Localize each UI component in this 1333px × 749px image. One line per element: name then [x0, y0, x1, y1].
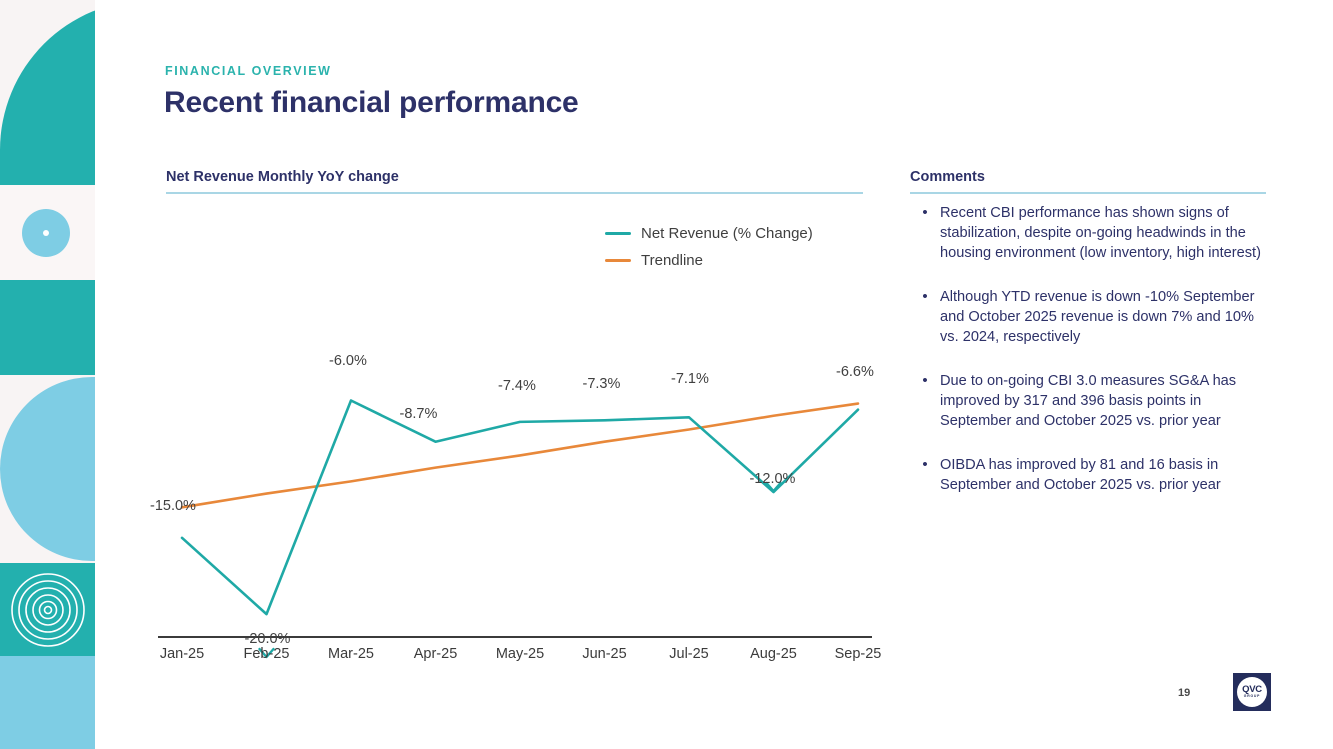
- x-axis-label-sep-25: Sep-25: [818, 646, 898, 662]
- rail-block-donut: [0, 185, 95, 280]
- net-revenue-series: [182, 401, 858, 615]
- x-axis-label-jan-25: Jan-25: [142, 646, 222, 662]
- x-axis-label-jul-25: Jul-25: [649, 646, 729, 662]
- comment-text: Due to on-going CBI 3.0 measures SG&A ha…: [940, 371, 1270, 431]
- slide: FINANCIAL OVERVIEW Recent financial perf…: [0, 0, 1333, 749]
- chart-legend: Net Revenue (% Change) Trendline: [605, 220, 813, 274]
- data-label-aug-25: -12.0%: [750, 471, 796, 487]
- logo-secondary-text: GROUP: [1244, 694, 1260, 699]
- legend-swatch-trendline: [605, 259, 631, 262]
- legend-label-net-revenue: Net Revenue (% Change): [641, 225, 813, 242]
- comment-item: •Due to on-going CBI 3.0 measures SG&A h…: [910, 371, 1270, 431]
- chevron-markers: [260, 483, 781, 657]
- quarter-circle-shape: [0, 0, 95, 185]
- comment-item: •OIBDA has improved by 81 and 16 basis i…: [910, 455, 1270, 495]
- rail-block-solid-teal: [0, 280, 95, 375]
- concentric-rings-icon: [10, 568, 86, 652]
- data-label-apr-25: -8.7%: [400, 406, 438, 422]
- bullet-icon: •: [910, 455, 940, 495]
- legend-item-net-revenue: Net Revenue (% Change): [605, 220, 813, 247]
- legend-swatch-net-revenue: [605, 232, 631, 235]
- data-label-sep-25: -6.6%: [836, 364, 874, 380]
- comment-text: Recent CBI performance has shown signs o…: [940, 203, 1270, 263]
- data-label-may-25: -7.4%: [498, 378, 536, 394]
- x-axis-label-feb-25: Feb-25: [227, 646, 307, 662]
- half-circle-shape: [0, 377, 95, 561]
- comments-section-heading: Comments: [910, 169, 985, 185]
- legend-label-trendline: Trendline: [641, 252, 703, 269]
- comments-list: •Recent CBI performance has shown signs …: [910, 203, 1270, 519]
- logo-primary-text: QVC: [1242, 685, 1262, 694]
- page-title: Recent financial performance: [164, 86, 579, 120]
- data-label-jan-25: -15.0%: [150, 498, 196, 514]
- x-axis-label-mar-25: Mar-25: [311, 646, 391, 662]
- logo-circle: QVC GROUP: [1237, 677, 1267, 707]
- page-number: 19: [1178, 687, 1190, 699]
- line-chart: Net Revenue (% Change) Trendline -15.0%-…: [150, 200, 890, 670]
- x-axis-label-may-25: May-25: [480, 646, 560, 662]
- x-axis-label-apr-25: Apr-25: [396, 646, 476, 662]
- bullet-icon: •: [910, 371, 940, 431]
- decorative-rail: [0, 0, 95, 749]
- rail-block-half-circle: [0, 375, 95, 563]
- comments-section-divider: [910, 192, 1266, 194]
- data-label-feb-25: -20.0%: [245, 631, 291, 647]
- data-label-jul-25: -7.1%: [671, 371, 709, 387]
- data-label-mar-25: -6.0%: [329, 353, 367, 369]
- donut-hole-icon: [43, 230, 49, 236]
- qvc-group-logo: QVC GROUP: [1233, 673, 1271, 711]
- chart-section-divider: [166, 192, 863, 194]
- chart-section-heading: Net Revenue Monthly YoY change: [166, 169, 399, 185]
- comment-item: •Recent CBI performance has shown signs …: [910, 203, 1270, 263]
- comment-text: OIBDA has improved by 81 and 16 basis in…: [940, 455, 1270, 495]
- x-axis-label-jun-25: Jun-25: [565, 646, 645, 662]
- legend-item-trendline: Trendline: [605, 247, 813, 274]
- comment-item: •Although YTD revenue is down -10% Septe…: [910, 287, 1270, 347]
- bullet-icon: •: [910, 203, 940, 263]
- bullet-icon: •: [910, 287, 940, 347]
- rail-block-rings: [0, 563, 95, 656]
- rail-block-light-blue: [0, 656, 95, 749]
- trendline-series: [182, 404, 858, 508]
- comment-text: Although YTD revenue is down -10% Septem…: [940, 287, 1270, 347]
- x-axis-label-aug-25: Aug-25: [734, 646, 814, 662]
- section-eyebrow: FINANCIAL OVERVIEW: [165, 64, 332, 78]
- rail-block-teal-rounded: [0, 0, 95, 185]
- data-label-jun-25: -7.3%: [583, 376, 621, 392]
